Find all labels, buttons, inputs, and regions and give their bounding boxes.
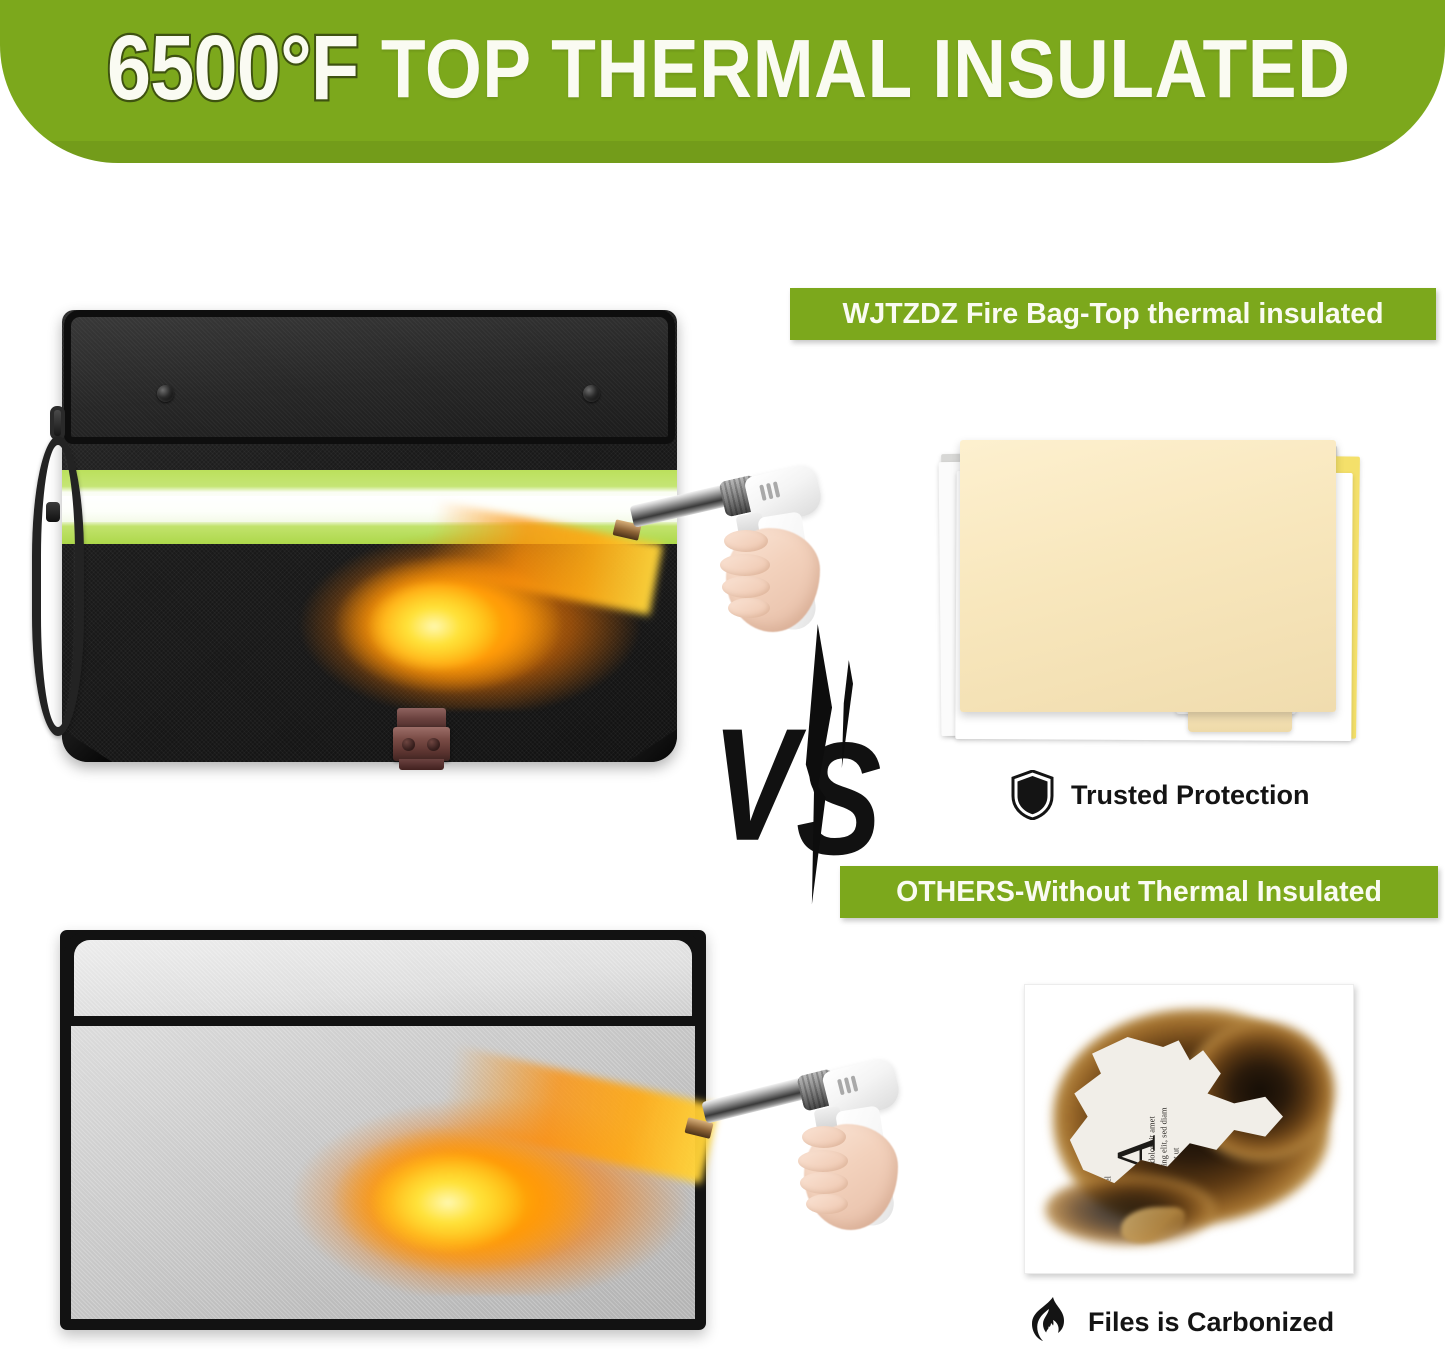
product-infographic: 6500°F TOP THERMAL INSULATED WJTZDZ Fire… (0, 0, 1445, 1349)
torch-vent-1 (759, 484, 766, 500)
snap-button-right (583, 385, 600, 402)
finger-index (802, 1126, 846, 1148)
finger-ring (800, 1172, 848, 1194)
strap-loop (32, 436, 84, 736)
wrist-strap (24, 406, 94, 756)
clasp-rivet-left (402, 738, 415, 751)
label-other-product: OTHERS-Without Thermal Insulated (840, 866, 1438, 918)
header-banner: 6500°F TOP THERMAL INSULATED (0, 0, 1445, 163)
caption-files-carbonized-label: Files is Carbonized (1088, 1307, 1334, 1338)
finger-middle (720, 554, 770, 576)
page-title: TOP THERMAL INSULATED (381, 28, 1351, 111)
clasp-face-plate (393, 727, 450, 761)
silver-bag-flap (64, 930, 702, 1026)
burnt-document: orem ipsum dolor sit amet tetuer adipisc… (1024, 984, 1354, 1274)
black-bag-flap (64, 310, 675, 444)
document-stack (938, 428, 1358, 748)
label-good-product: WJTZDZ Fire Bag-Top thermal insulated (790, 288, 1436, 340)
silver-fireproof-bag (60, 930, 706, 1330)
clasp-rivet-right (427, 738, 440, 751)
torch-vent-2 (844, 1077, 852, 1093)
strap-bead (46, 502, 60, 522)
clasp-top-plate (397, 708, 446, 729)
torch-vent-3 (851, 1075, 859, 1091)
banner-bottom-shade (0, 141, 1445, 163)
header-temperature: 6500°F (107, 23, 359, 115)
torch-vent-1 (837, 1079, 845, 1095)
reflective-stripe-white-band (62, 496, 677, 522)
metal-clasp-icon (393, 708, 450, 770)
butane-torch-bottom (690, 1062, 970, 1302)
finger-middle (798, 1150, 848, 1172)
vs-letter-v: V (712, 706, 789, 866)
shield-icon (1011, 770, 1054, 820)
torch-vent-3 (773, 481, 780, 497)
finger-ring (722, 576, 770, 598)
reflective-stripe (62, 470, 677, 544)
torch-vent-2 (766, 483, 773, 499)
snap-button-left (157, 385, 174, 402)
vs-emblem: V S (700, 608, 900, 894)
manila-folder (960, 440, 1336, 712)
header-text-wrap: 6500°F TOP THERMAL INSULATED (0, 0, 1445, 138)
finger-index (724, 530, 768, 552)
caption-trusted-protection-label: Trusted Protection (1071, 780, 1310, 811)
fire-icon (1031, 1297, 1071, 1347)
finger-pinky (806, 1194, 848, 1214)
caption-files-carbonized: Files is Carbonized (1031, 1297, 1334, 1347)
black-fireproof-bag (62, 310, 677, 762)
clasp-base-plate (399, 759, 444, 770)
strap-clip-icon (50, 406, 65, 440)
caption-trusted-protection: Trusted Protection (1011, 770, 1310, 820)
